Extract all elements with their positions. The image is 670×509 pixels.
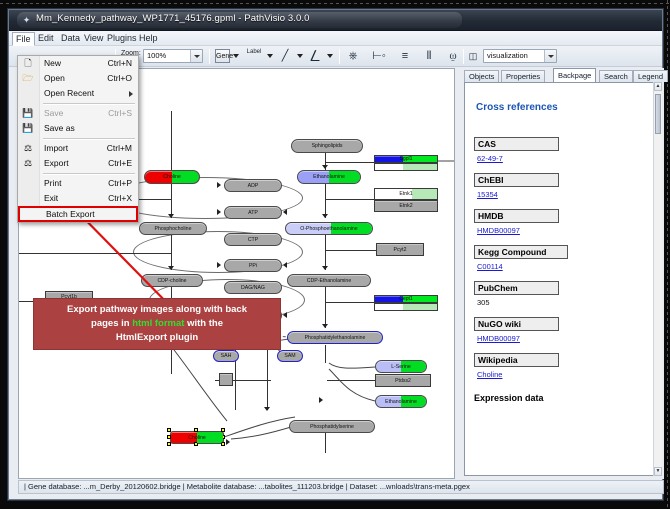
expression-data-heading: Expression data [474,393,544,403]
node-cept1-lower[interactable] [374,303,438,311]
node-ethanolamine-lower[interactable]: Ethanolamine [375,395,427,408]
menu-help[interactable]: Help [135,32,162,45]
edge-pcyt2-link [325,250,376,251]
menu-item-open-recent-label: Open Recent [44,88,94,98]
edge-pe-to-ps-col [267,346,268,410]
toolbar-separator-4 [463,49,464,64]
edge-sgpl1-link [325,162,374,163]
node-ppi[interactable]: PPi [224,259,282,272]
node-phosphocholine[interactable]: Phosphocholine [139,222,207,235]
visualization-combo[interactable]: visualization [483,49,557,63]
chevron-down-icon[interactable] [190,50,202,62]
callout-line-2-accent: html format [132,318,184,329]
node-label: O-Phosphoethanolamine [300,226,357,232]
align-top-icon[interactable]: ⎈ [345,48,361,64]
menu-edit[interactable]: Edit [34,32,58,45]
menu-item-open-recent[interactable]: Open Recent [18,86,138,101]
node-cdp-ethanolamine[interactable]: CDP-Ethanolamine [287,274,371,287]
xref-value-hmdb[interactable]: HMDB00097 [477,226,520,235]
tab-legend[interactable]: Legend [633,70,668,82]
datanode-tool-button[interactable]: Gene [215,49,230,63]
node-label: Phosphocholine [155,226,192,232]
save-as-disk-icon: 💾 [22,123,34,134]
node-sam[interactable]: SAM [277,350,303,362]
stack-icon[interactable]: ⍹ [445,48,461,64]
import-icon: ⚖ [22,143,34,154]
toolbar-separator-2 [209,49,210,64]
node-o-phosphoethanolamine[interactable]: O-Phosphoethanolamine [285,222,373,235]
label-tool-button[interactable]: Label [243,49,265,64]
edge-ps-down [325,433,326,453]
node-label: Sgpl1 [400,156,413,162]
node-pcyt2[interactable]: Pcyt2 [376,243,424,256]
edge-cept1-link [325,302,374,303]
backpage-content: Cross references CAS 62-49-7 ChEBI 15354… [464,82,661,476]
file-menu-dropdown[interactable]: 🗋 New Ctrl+N 🗁 Open Ctrl+O Open Recent 💾… [17,55,139,223]
node-label: Phosphatidylserine [310,424,354,430]
xref-value-pubchem: 305 [477,298,490,307]
arrowhead-left-atp [283,209,287,215]
label-tool-label: Label [247,49,262,55]
menu-item-import-accel: Ctrl+M [107,141,132,156]
tab-backpage[interactable]: Backpage [553,68,596,82]
node-label: Choline [188,435,206,441]
node-label: SAM [284,353,295,359]
line-tool-icon[interactable]: ╱ [277,48,293,64]
window-titlebar: ✦ Mm_Kennedy_pathway_WP1771_45176.gpml -… [9,10,662,31]
menu-item-new-accel: Ctrl+N [108,56,132,71]
node-sgpl1-upper[interactable]: Sgpl1 [374,155,438,163]
node-ptdss2[interactable]: Ptdss2 [375,374,431,387]
edge-choline-to-phosphocholine [171,184,172,218]
node-label: Etnk1 [399,191,412,197]
interaction-anchor [219,373,233,386]
node-label: Ptdss2 [395,378,411,384]
menu-item-import-label: Import [44,143,68,153]
node-phosphatidylethanolamine[interactable]: Phosphatidylethanolamine [287,331,383,344]
annotation-callout: Export pathway images along with back pa… [33,298,281,350]
pathvisio-window: ✦ Mm_Kennedy_pathway_WP1771_45176.gpml -… [8,9,663,500]
menu-item-batch-export[interactable]: Batch Export [18,206,138,222]
callout-line-2-post: with the [184,318,223,329]
node-label: L-Serine [391,364,411,370]
node-label: Pcyt2 [394,247,407,253]
screen: ✦ Mm_Kennedy_pathway_WP1771_45176.gpml -… [0,0,670,509]
arrowhead-down-4 [322,165,328,169]
edge-cdpeth-to-pe [325,287,326,328]
xref-source-hmdb: HMDB [474,209,559,223]
menu-item-import[interactable]: ⚖ Import Ctrl+M [18,141,138,156]
callout-line-3: HtmlExport plugin [40,331,274,345]
arrowhead-down-ps [264,407,270,411]
xref-value-wikipedia[interactable]: Choline [477,370,502,379]
line-dropdown-chevron-icon[interactable] [297,54,304,59]
tab-properties[interactable]: Properties [501,70,545,82]
node-dag-nag[interactable]: DAG/NAG [224,281,282,294]
menu-item-exit-label: Exit [44,193,58,203]
node-label: ATP [248,210,258,216]
arrowhead-right-choline-sel [226,439,230,445]
cross-references-heading: Cross references [476,102,558,113]
datanode-dropdown-chevron-icon[interactable] [233,54,240,59]
menu-item-save-label: Save [44,108,63,118]
node-phosphatidylserine[interactable]: Phosphatidylserine [289,420,375,433]
expression-stripe-right [403,304,437,310]
menu-item-print-label: Print [44,178,61,188]
edge-ptdss2-link [327,380,375,381]
arrowhead-down-6 [322,266,328,270]
scroll-up-arrow-icon[interactable]: ▲ [654,82,662,91]
node-cept1-upper[interactable]: Cept1 [374,295,438,303]
side-panel-scrollbar[interactable]: ▲ ▼ [653,82,662,476]
node-label: CDP-Ethanolamine [307,278,351,284]
edge-left-in-2 [19,253,171,254]
scroll-down-arrow-icon[interactable]: ▼ [654,467,662,476]
menu-item-export-accel: Ctrl+E [108,156,132,171]
distribute-horizontally-icon[interactable]: ⦀ [421,48,437,64]
menu-item-export[interactable]: ⚖ Export Ctrl+E [18,156,138,171]
node-adp[interactable]: ADP [224,179,282,192]
callout-line-2-pre: pages in [91,318,132,329]
visualization-value: visualization [487,50,528,62]
arrowhead-left-cmp [283,312,287,318]
menubar: File Edit Data View Plugins Help [9,31,662,46]
menu-item-save-as[interactable]: 💾 Save as [18,121,138,136]
label-dropdown-chevron-icon[interactable] [267,54,274,59]
tab-objects[interactable]: Objects [464,70,499,82]
xref-value-chebi[interactable]: 15354 [477,190,498,199]
arrowhead-left-ppi [283,262,287,268]
node-label: Phosphatidylethanolamine [305,335,366,341]
statusbar: | Gene database: ...m_Derby_20120602.bri… [18,480,664,494]
menu-item-export-label: Export [44,158,69,168]
visualization-chevron-down-icon[interactable] [544,50,556,62]
node-label: Choline [163,174,181,180]
edge-phosphocholine-to-cdpcholine [171,235,172,270]
menu-item-exit[interactable]: Exit Ctrl+X [18,191,138,206]
datanode-tool-label: Gene [216,53,233,60]
arrowhead-down-1 [168,214,174,218]
menu-item-save-as-label: Save as [44,123,75,133]
node-ethanolamine-top[interactable]: Ethanolamine [297,170,361,184]
menu-item-print-accel: Ctrl+P [108,176,132,191]
tab-search[interactable]: Search [599,70,633,82]
arrowhead-right-adp [217,182,221,188]
node-ctp[interactable]: CTP [224,233,282,246]
expression-stripe-right [403,164,437,170]
statusbar-text: | Gene database: ...m_Derby_20120602.bri… [24,481,470,493]
menu-item-new-label: New [44,58,61,68]
menu-item-batch-export-label: Batch Export [46,209,95,219]
arrowhead-right-ethanolamine [319,397,323,403]
visualization-icon: ◫ [466,48,480,64]
node-atp[interactable]: ATP [224,206,282,219]
arrowhead-down-2 [168,266,174,270]
scrollbar-thumb[interactable] [655,94,661,134]
node-l-serine[interactable]: L-Serine [375,360,427,373]
shape-tool-icon[interactable]: ⎳ [307,48,323,64]
xref-source-pubchem: PubChem [474,281,559,295]
arrowhead-down-7 [322,324,328,328]
edge-ophospho-to-cdpeth [325,235,326,270]
node-sgpl1-lower[interactable] [374,163,438,171]
window-title: Mm_Kennedy_pathway_WP1771_45176.gpml - P… [36,13,310,24]
xref-source-chebi: ChEBI [474,173,559,187]
menu-file[interactable]: File [12,32,35,46]
menu-item-save: 💾 Save Ctrl+S [18,106,138,121]
menu-item-open-label: Open [44,73,65,83]
arrowhead-right-ppi [217,262,221,268]
edge-pc-down [171,346,172,374]
edge-ethanolamine-to-ophospho [325,184,326,218]
callout-line-2: pages in html format with the [40,317,274,331]
node-label: CDP-choline [157,278,186,284]
node-sah[interactable]: SAH [213,350,239,362]
node-cdp-choline[interactable]: CDP-choline [141,274,203,287]
menu-item-exit-accel: Ctrl+X [108,191,132,206]
menu-item-open-accel: Ctrl+O [107,71,132,86]
node-label: Ethanolamine [313,174,345,180]
export-icon: ⚖ [22,158,34,169]
menu-item-open[interactable]: 🗁 Open Ctrl+O [18,71,138,86]
align-left-icon[interactable]: ⊢◦ [371,48,387,64]
pathvisio-app-icon: ✦ [21,15,32,26]
callout-line-1: Export pathway images along with back [40,303,274,317]
xref-source-nugo: NuGO wiki [474,317,559,331]
node-choline-top[interactable]: Choline [144,170,200,184]
node-etnk2[interactable]: Etnk2 [374,200,438,212]
menu-item-new[interactable]: 🗋 New Ctrl+N [18,56,138,71]
expression-stripe-right [412,189,437,199]
menu-item-save-accel: Ctrl+S [108,106,132,121]
side-panel-tabstrip: Objects Properties Backpage Search Legen… [461,68,664,82]
node-label: Cept1 [399,296,412,302]
submenu-chevron-right-icon [129,91,133,97]
shape-dropdown-chevron-icon[interactable] [327,54,334,59]
open-folder-icon: 🗁 [22,73,34,84]
node-label: CTP [248,237,258,243]
xref-value-kegg[interactable]: C00114 [477,262,503,271]
node-label: PPi [249,263,257,269]
menu-item-print[interactable]: Print Ctrl+P [18,176,138,191]
edge-pe-stub [325,345,326,363]
zoom-combo[interactable]: 100% [143,49,203,63]
xref-value-cas[interactable]: 62-49-7 [477,154,503,163]
xref-source-wikipedia: Wikipedia [474,353,559,367]
node-label: Ethanolamine [385,399,417,405]
node-label: Etnk2 [399,203,412,209]
node-etnk1[interactable]: Etnk1 [374,188,438,200]
new-file-icon: 🗋 [22,58,34,69]
xref-source-kegg: Kegg Compound [474,245,568,259]
side-panel: Objects Properties Backpage Search Legen… [461,68,664,479]
save-disk-icon: 💾 [22,108,34,119]
arrowhead-down-5 [322,214,328,218]
node-label: SAH [221,353,232,359]
toolbar-separator-3 [339,49,340,64]
node-label: Sphingolipids [312,143,343,149]
node-choline-selected[interactable]: Choline [170,431,224,444]
node-label: DAG/NAG [241,285,265,291]
desktop-edge-top [0,3,670,4]
arrowhead-right-atp [217,209,221,215]
edge-etnk-link [325,199,374,200]
distribute-vertically-icon[interactable]: ≡ [397,48,413,64]
node-label: ADP [248,183,259,189]
xref-source-cas: CAS [474,137,559,151]
edge-choline-inflow [171,111,172,173]
node-sphingolipids[interactable]: Sphingolipids [291,139,363,153]
xref-value-nugo[interactable]: HMDB00097 [477,334,520,343]
zoom-value: 100% [147,50,166,62]
